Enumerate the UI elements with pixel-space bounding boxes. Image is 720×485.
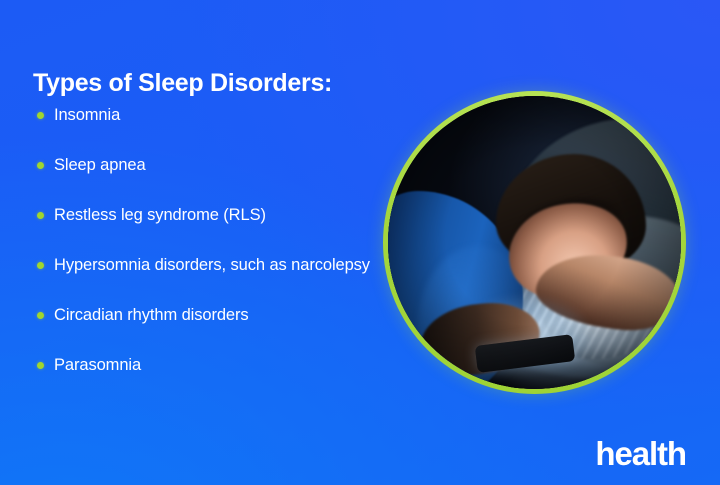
photo-circle-frame bbox=[383, 91, 686, 394]
bullet-dot-icon bbox=[37, 162, 44, 169]
bullet-dot-icon bbox=[37, 312, 44, 319]
list-item-label: Restless leg syndrome (RLS) bbox=[54, 203, 373, 227]
list-item: Sleep apnea bbox=[33, 153, 373, 177]
bullet-dot-icon bbox=[37, 262, 44, 269]
list-item: Restless leg syndrome (RLS) bbox=[33, 203, 373, 227]
bullet-dot-icon bbox=[37, 112, 44, 119]
list-item: Parasomnia bbox=[33, 353, 373, 377]
list-item: Circadian rhythm disorders bbox=[33, 303, 373, 327]
photo-vignette bbox=[388, 96, 681, 389]
list-item: Hypersomnia disorders, such as narcoleps… bbox=[33, 253, 373, 277]
infographic-canvas: Types of Sleep Disorders: Insomnia Sleep… bbox=[0, 0, 720, 485]
bullet-dot-icon bbox=[37, 212, 44, 219]
sleep-disorders-list: Insomnia Sleep apnea Restless leg syndro… bbox=[33, 103, 373, 377]
brand-logo: health bbox=[595, 437, 686, 470]
night-bedroom-illustration bbox=[388, 96, 681, 389]
list-item-label: Parasomnia bbox=[54, 353, 373, 377]
page-title: Types of Sleep Disorders: bbox=[33, 69, 332, 98]
photo-image bbox=[388, 96, 681, 389]
list-item-label: Sleep apnea bbox=[54, 153, 373, 177]
list-item-label: Circadian rhythm disorders bbox=[54, 303, 373, 327]
list-item-label: Hypersomnia disorders, such as narcoleps… bbox=[54, 253, 373, 277]
list-item-label: Insomnia bbox=[54, 103, 373, 127]
list-item: Insomnia bbox=[33, 103, 373, 127]
bullet-dot-icon bbox=[37, 362, 44, 369]
